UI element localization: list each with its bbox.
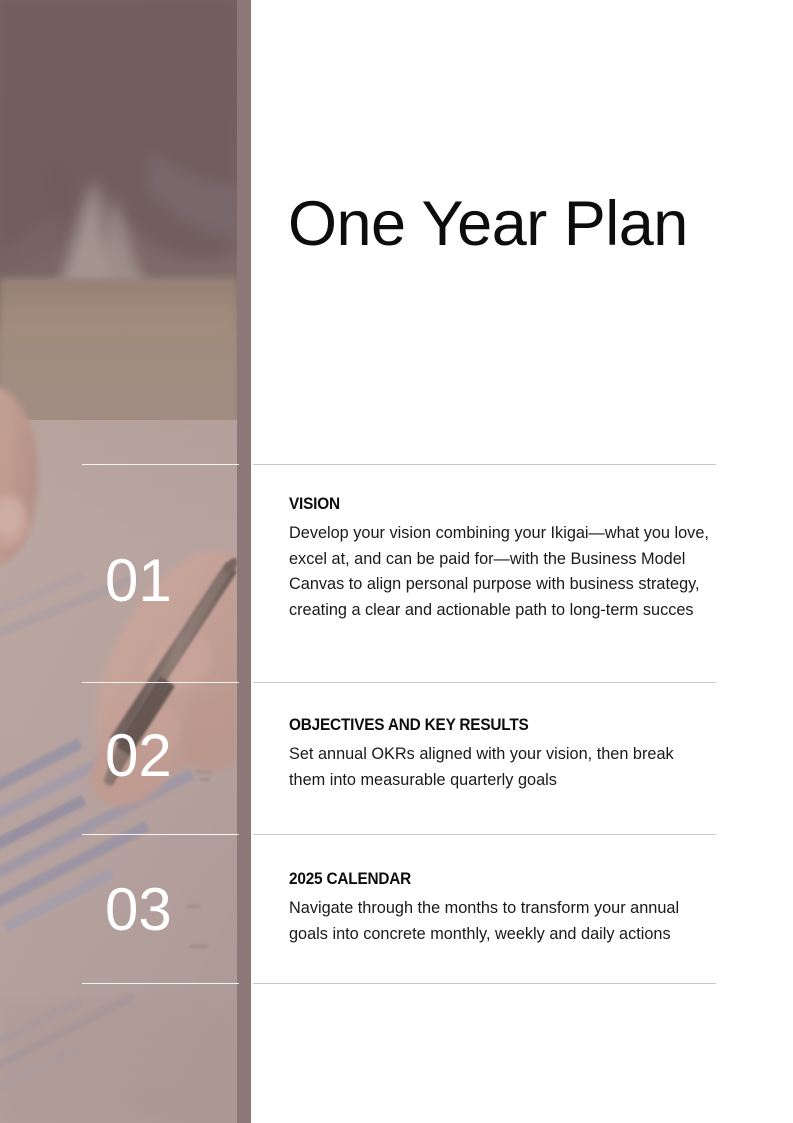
step-block-okr: OBJECTIVES AND KEY RESULTS Set annual OK… [289, 716, 717, 793]
divider-gray-segment [253, 464, 716, 465]
step-number-02: 02 [105, 726, 225, 786]
divider-gray-segment [253, 983, 716, 984]
step-block-vision: VISION Develop your vision combining you… [289, 495, 717, 624]
step-block-calendar: 2025 CALENDAR Navigate through the month… [289, 870, 717, 947]
step-heading: OBJECTIVES AND KEY RESULTS [289, 716, 687, 735]
divider-gray-segment [253, 834, 716, 835]
divider-light-segment [82, 464, 239, 465]
step-heading: VISION [289, 495, 687, 514]
step-body: Develop your vision combining your Ikiga… [289, 521, 713, 624]
divider-light-segment [82, 983, 239, 984]
divider-4 [82, 983, 716, 984]
step-number-03: 03 [105, 880, 225, 940]
accent-band [237, 0, 251, 1123]
divider-light-segment [82, 834, 239, 835]
step-body: Navigate through the months to transform… [289, 896, 693, 947]
page-title: One Year Plan [288, 193, 688, 256]
divider-1 [82, 464, 716, 465]
divider-3 [82, 834, 716, 835]
step-heading: 2025 CALENDAR [289, 870, 687, 889]
slide-page: One Year Plan 01 02 03 VISION Develop yo… [0, 0, 793, 1123]
divider-gray-segment [253, 682, 716, 683]
step-number-01: 01 [105, 551, 225, 611]
divider-2 [82, 682, 716, 683]
divider-light-segment [82, 682, 239, 683]
step-body: Set annual OKRs aligned with your vision… [289, 742, 689, 793]
